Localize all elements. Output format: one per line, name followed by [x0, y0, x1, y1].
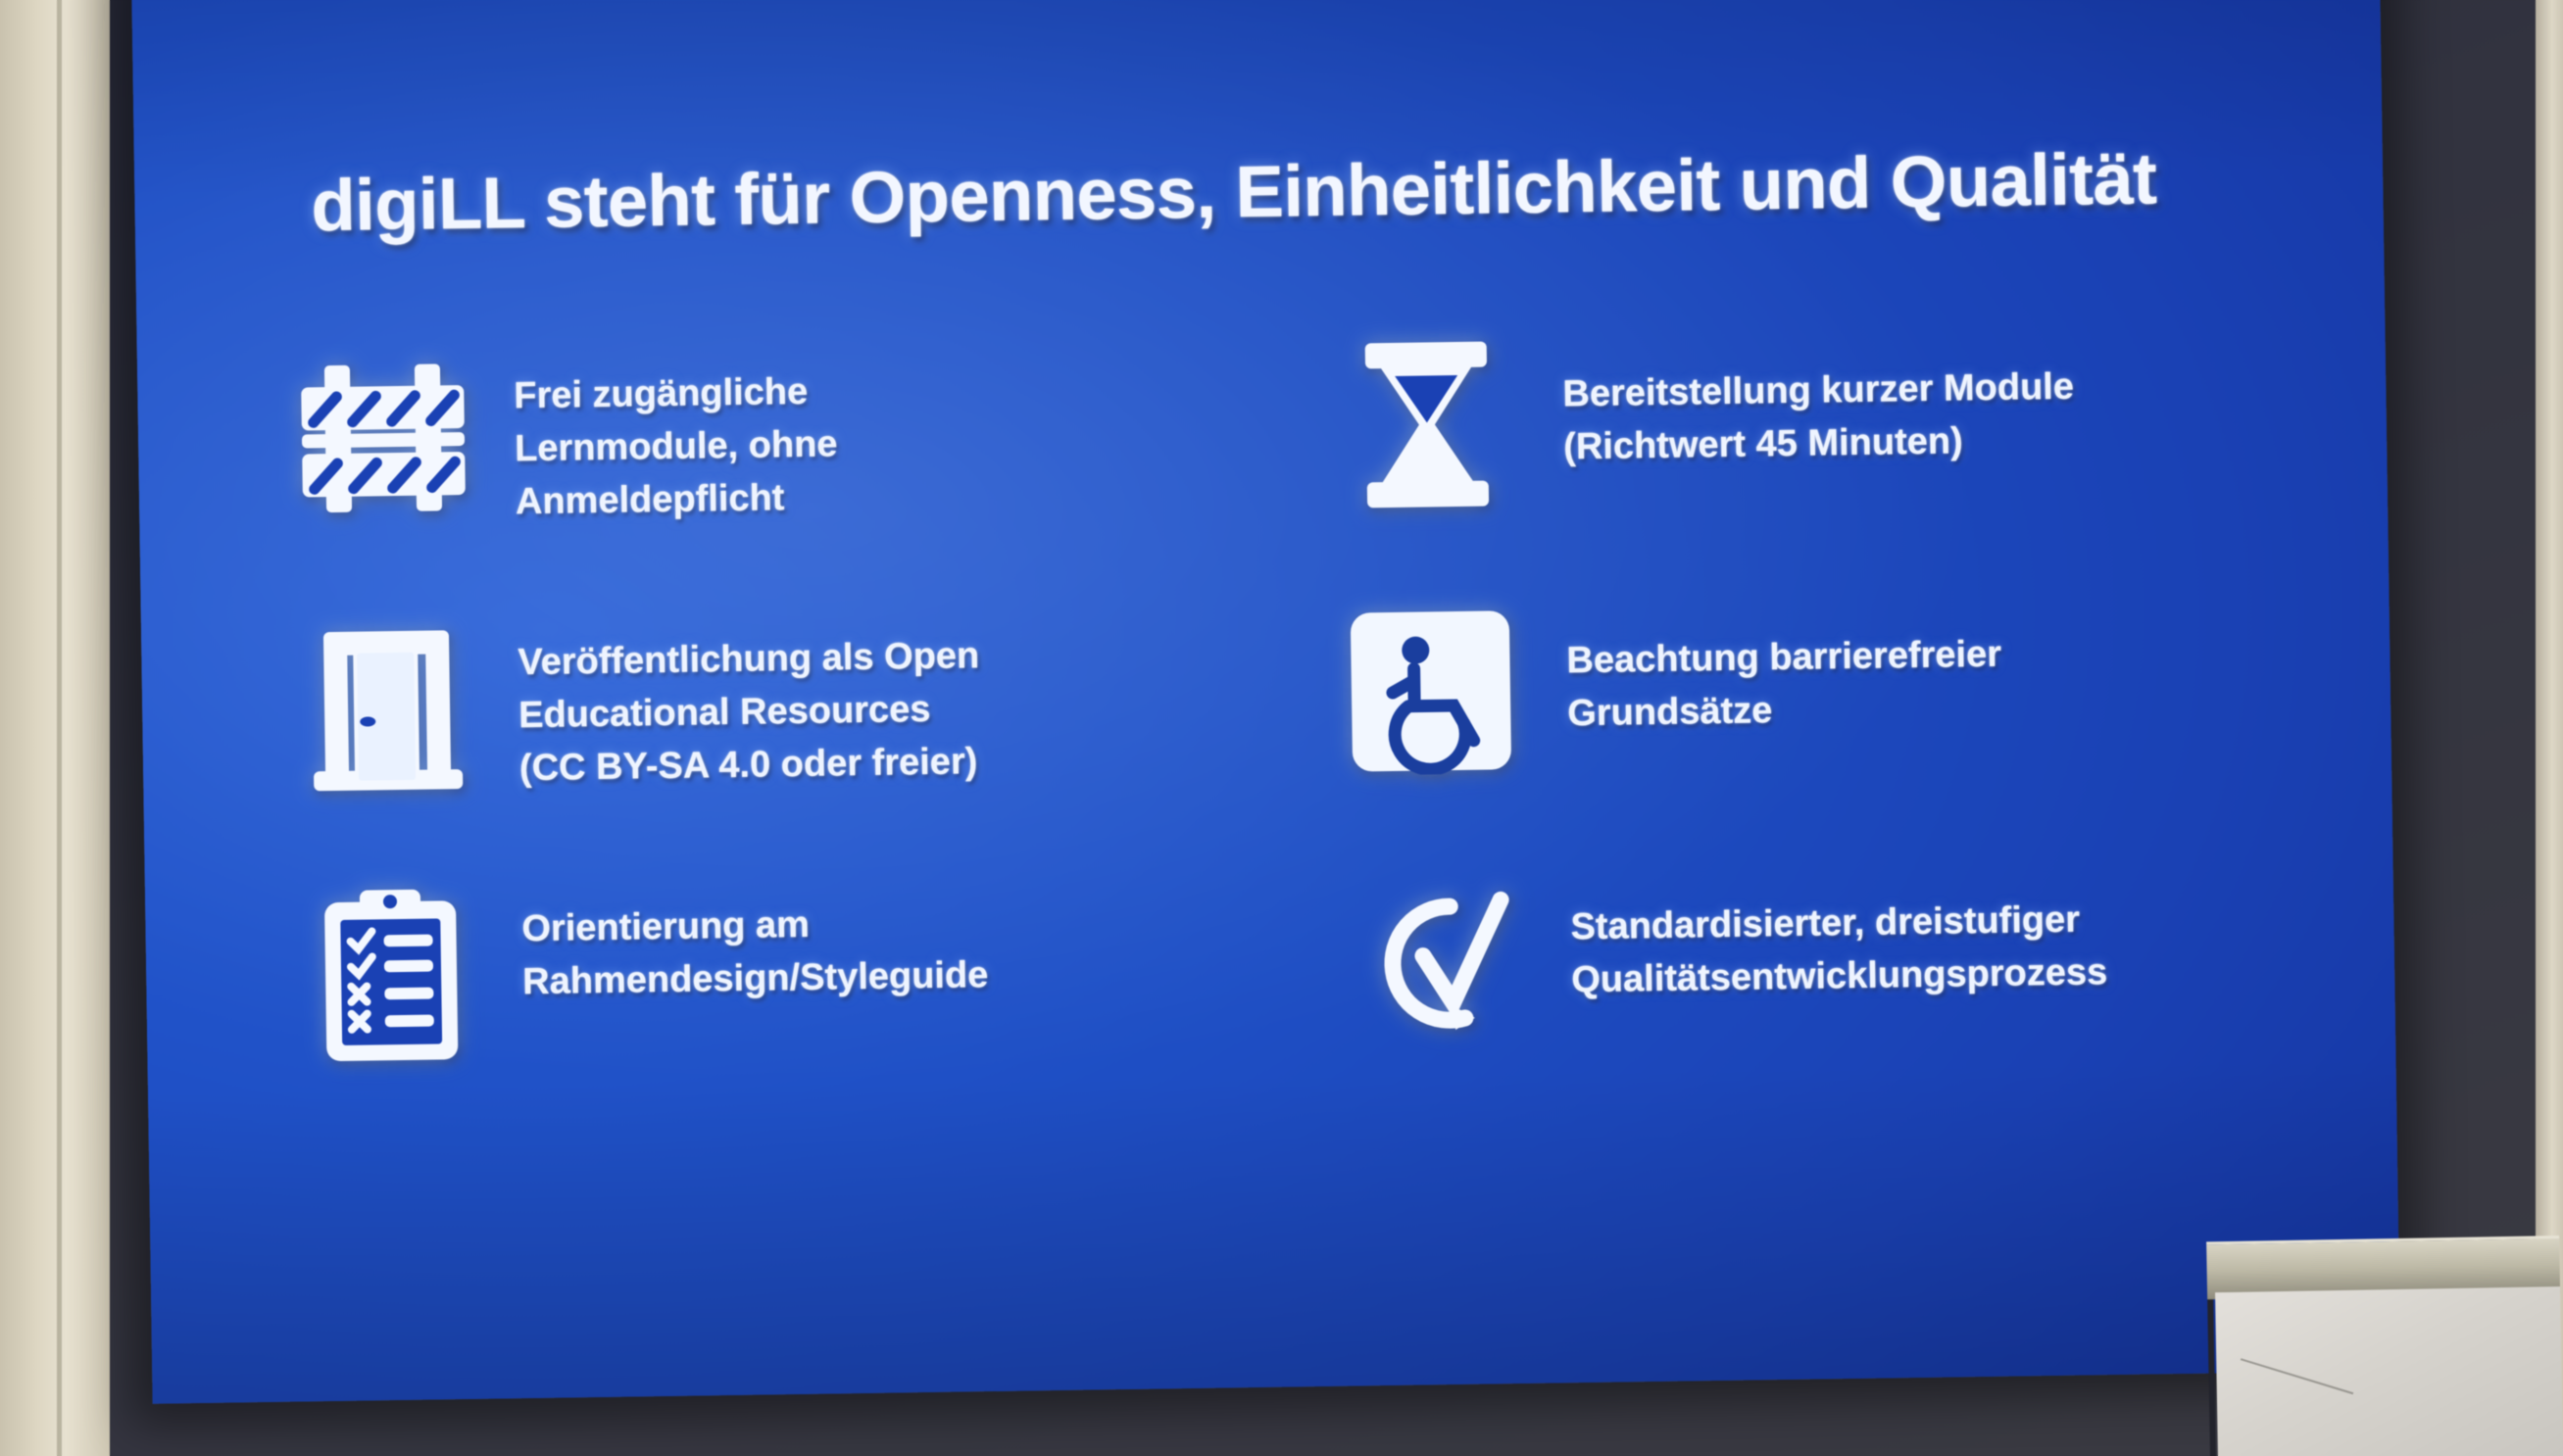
slide-content: digiLL steht für Openness, Einheitlichke…: [131, 0, 2400, 1404]
feature-text-line: Lernmodule, ohne: [515, 418, 838, 476]
feature-text-line: Frei zugängliche: [514, 365, 837, 423]
feature-text: Orientierung am Rahmendesign/Styleguide: [521, 871, 989, 1009]
barrier-icon: [284, 346, 483, 535]
wall-left: [0, 0, 110, 1456]
feature-item-accessibility: Beachtung barrierefreier Grundsätze: [1327, 585, 2311, 845]
feature-text-line: Educational Resources: [518, 683, 981, 743]
feature-text-line: Veröffentlichung als Open: [518, 630, 980, 690]
feature-item-styleguide: Orientierung am Rahmendesign/Styleguide: [292, 867, 1276, 1127]
feature-text-line: Qualitätsentwicklungsprozess: [1571, 946, 2108, 1007]
wheelchair-accessibility-icon: [1327, 597, 1536, 786]
flipchart-crease: [2241, 1358, 2353, 1394]
flipchart-board: [2206, 1236, 2563, 1456]
feature-item-short-modules: Bereitstellung kurzer Module (Richtwert …: [1323, 318, 2307, 578]
feature-text: Beachtung barrierefreier Grundsätze: [1566, 590, 2003, 741]
slide-title: digiLL steht für Openness, Einheitlichke…: [311, 139, 2272, 244]
feature-grid: Frei zugängliche Lernmodule, ohne Anmeld…: [284, 318, 2315, 1126]
feature-text: Veröffentlichung als Open Educational Re…: [518, 605, 982, 796]
feature-text: Frei zugängliche Lernmodule, ohne Anmeld…: [514, 340, 839, 529]
feature-item-oer-publication: Veröffentlichung als Open Educational Re…: [288, 601, 1272, 860]
feature-text-line: (CC BY-SA 4.0 oder freier): [519, 736, 982, 796]
feature-text-line: Beachtung barrierefreier: [1566, 629, 2001, 689]
feature-item-quality-process: Standardisierter, dreistufiger Qualitäts…: [1331, 851, 2315, 1111]
feature-text-line: Rahmendesign/Styleguide: [522, 949, 989, 1009]
wall-seam: [57, 0, 62, 1456]
feature-text-line: Grundsätze: [1567, 682, 2002, 742]
feature-text-line: Bereitstellung kurzer Module: [1562, 362, 2074, 422]
feature-text: Standardisierter, dreistufiger Qualitäts…: [1570, 854, 2108, 1007]
photo-scene: digiLL steht für Openness, Einheitlichke…: [0, 0, 2563, 1456]
clipboard-checklist-icon: [292, 879, 491, 1068]
feature-text-line: Orientierung am: [521, 897, 988, 956]
feature-text-line: (Richtwert 45 Minuten): [1563, 414, 2075, 475]
hourglass-icon: [1323, 330, 1532, 519]
feature-text: Bereitstellung kurzer Module (Richtwert …: [1561, 322, 2075, 475]
projected-slide: digiLL steht für Openness, Einheitlichke…: [131, 0, 2400, 1404]
feature-item-open-access: Frei zugängliche Lernmodule, ohne Anmeld…: [284, 334, 1268, 594]
feature-text-line: Standardisierter, dreistufiger: [1570, 894, 2107, 954]
feature-text-line: Anmeldepflicht: [516, 471, 839, 529]
flipchart-paper: [2215, 1286, 2563, 1456]
open-door-icon: [288, 612, 487, 801]
check-cycle-icon: [1331, 863, 1540, 1052]
